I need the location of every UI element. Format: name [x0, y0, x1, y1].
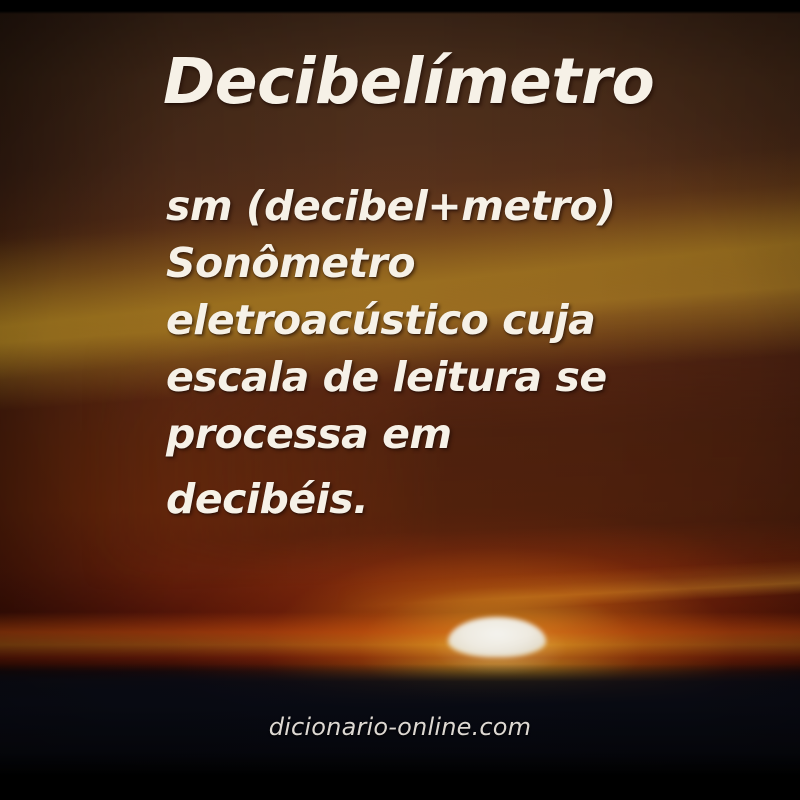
definition-text: sm (decibel+metro) Sonômetro eletroacúst… [166, 178, 666, 528]
text-overlay: Decibelímetro sm (decibel+metro) Sonômet… [0, 0, 800, 800]
definition-line: sm (decibel+metro) [166, 178, 666, 235]
definition-image-card: Decibelímetro sm (decibel+metro) Sonômet… [0, 0, 800, 800]
site-watermark: dicionario-online.com [0, 713, 800, 741]
page-title: Decibelímetro [163, 50, 654, 113]
definition-line: eletroacústico cuja [166, 292, 666, 349]
definition-line: Sonômetro [166, 235, 666, 292]
definition-line: decibéis. [166, 471, 666, 528]
definition-line: processa em [166, 406, 666, 463]
definition-line: escala de leitura se [166, 349, 666, 406]
